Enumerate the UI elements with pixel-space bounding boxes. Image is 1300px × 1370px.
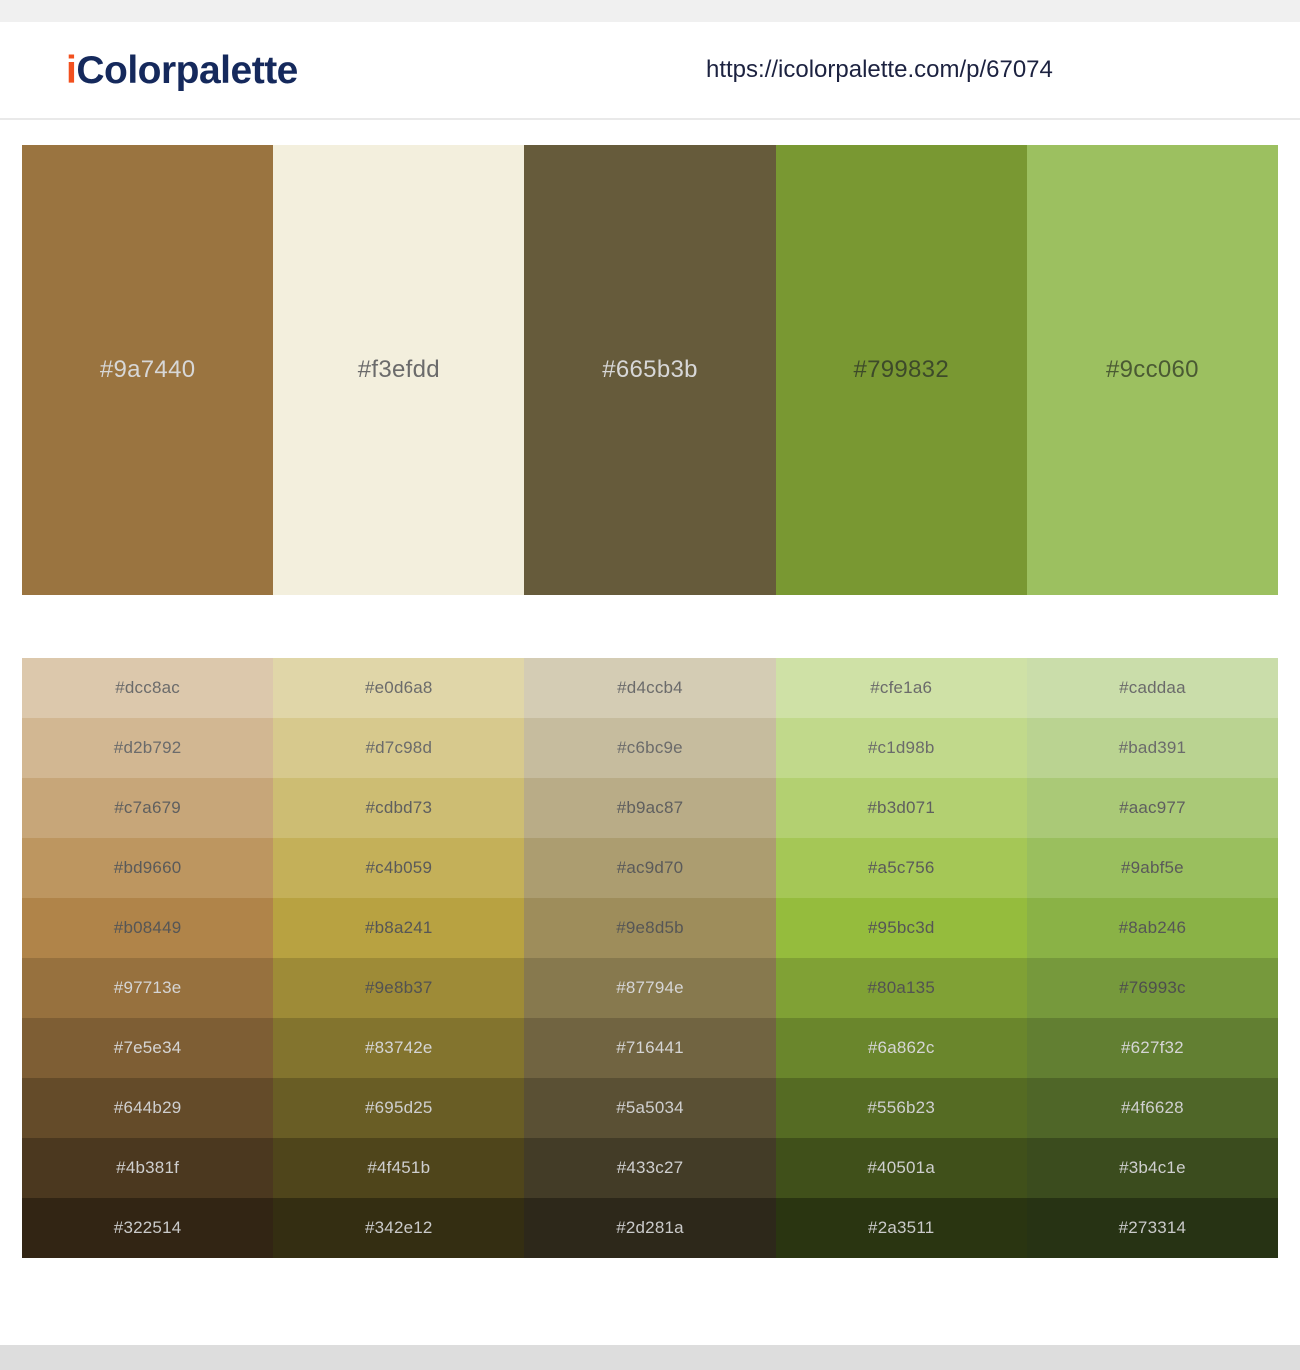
main-color-hex-label: #799832 <box>853 356 949 384</box>
shade-swatch[interactable]: #a5c756 <box>776 838 1027 898</box>
shade-swatch[interactable]: #ac9d70 <box>524 838 775 898</box>
shade-swatch[interactable]: #40501a <box>776 1138 1027 1198</box>
shade-swatch[interactable]: #716441 <box>524 1018 775 1078</box>
main-content: #9a7440#f3efdd#665b3b#799832#9cc060 #dcc… <box>0 145 1300 1258</box>
shade-column: #d4ccb4#c6bc9e#b9ac87#ac9d70#9e8d5b#8779… <box>524 658 775 1258</box>
shade-swatch[interactable]: #695d25 <box>273 1078 524 1138</box>
logo-letter-i: i <box>66 49 76 92</box>
logo-text: Colorpalette <box>76 49 298 92</box>
shade-swatch[interactable]: #8ab246 <box>1027 898 1278 958</box>
shade-swatch[interactable]: #aac977 <box>1027 778 1278 838</box>
main-color-hex-label: #9a7440 <box>100 356 196 384</box>
footer-bar <box>0 1345 1300 1370</box>
shade-swatch[interactable]: #2a3511 <box>776 1198 1027 1258</box>
shade-swatch[interactable]: #b3d071 <box>776 778 1027 838</box>
site-logo[interactable]: iColorpalette <box>66 51 298 90</box>
shade-swatch[interactable]: #6a862c <box>776 1018 1027 1078</box>
shade-swatch[interactable]: #97713e <box>22 958 273 1018</box>
shade-swatch[interactable]: #83742e <box>273 1018 524 1078</box>
shade-swatch[interactable]: #644b29 <box>22 1078 273 1138</box>
shade-swatch[interactable]: #5a5034 <box>524 1078 775 1138</box>
shade-swatch[interactable]: #433c27 <box>524 1138 775 1198</box>
shade-swatch[interactable]: #342e12 <box>273 1198 524 1258</box>
shade-swatch[interactable]: #76993c <box>1027 958 1278 1018</box>
shade-swatch[interactable]: #dcc8ac <box>22 658 273 718</box>
shade-swatch[interactable]: #c4b059 <box>273 838 524 898</box>
shade-swatch[interactable]: #c1d98b <box>776 718 1027 778</box>
shade-swatch[interactable]: #4b381f <box>22 1138 273 1198</box>
shade-swatch[interactable]: #95bc3d <box>776 898 1027 958</box>
shade-swatch[interactable]: #caddaa <box>1027 658 1278 718</box>
shade-swatch[interactable]: #b8a241 <box>273 898 524 958</box>
shade-swatch[interactable]: #d2b792 <box>22 718 273 778</box>
shade-swatch[interactable]: #2d281a <box>524 1198 775 1258</box>
shade-swatch[interactable]: #b9ac87 <box>524 778 775 838</box>
shade-swatch[interactable]: #273314 <box>1027 1198 1278 1258</box>
shade-variations-grid: #dcc8ac#d2b792#c7a679#bd9660#b08449#9771… <box>22 658 1278 1258</box>
top-strip <box>0 0 1300 22</box>
shade-swatch[interactable]: #c6bc9e <box>524 718 775 778</box>
shade-swatch[interactable]: #b08449 <box>22 898 273 958</box>
shade-swatch[interactable]: #80a135 <box>776 958 1027 1018</box>
shade-swatch[interactable]: #556b23 <box>776 1078 1027 1138</box>
shade-swatch[interactable]: #9abf5e <box>1027 838 1278 898</box>
shade-swatch[interactable]: #bd9660 <box>22 838 273 898</box>
shade-swatch[interactable]: #87794e <box>524 958 775 1018</box>
main-color-swatch[interactable]: #f3efdd <box>273 145 524 595</box>
main-color-swatch[interactable]: #9a7440 <box>22 145 273 595</box>
shade-swatch[interactable]: #627f32 <box>1027 1018 1278 1078</box>
shade-swatch[interactable]: #9e8d5b <box>524 898 775 958</box>
shade-swatch[interactable]: #cfe1a6 <box>776 658 1027 718</box>
shade-swatch[interactable]: #7e5e34 <box>22 1018 273 1078</box>
shade-column: #e0d6a8#d7c98d#cdbd73#c4b059#b8a241#9e8b… <box>273 658 524 1258</box>
shade-swatch[interactable]: #9e8b37 <box>273 958 524 1018</box>
shade-swatch[interactable]: #322514 <box>22 1198 273 1258</box>
shade-swatch[interactable]: #d7c98d <box>273 718 524 778</box>
shade-column: #caddaa#bad391#aac977#9abf5e#8ab246#7699… <box>1027 658 1278 1258</box>
shade-swatch[interactable]: #cdbd73 <box>273 778 524 838</box>
main-color-hex-label: #665b3b <box>602 356 698 384</box>
page-url: https://icolorpalette.com/p/67074 <box>706 56 1053 84</box>
shade-swatch[interactable]: #bad391 <box>1027 718 1278 778</box>
shade-swatch[interactable]: #4f6628 <box>1027 1078 1278 1138</box>
shade-swatch[interactable]: #3b4c1e <box>1027 1138 1278 1198</box>
main-color-hex-label: #f3efdd <box>358 356 440 384</box>
shade-column: #cfe1a6#c1d98b#b3d071#a5c756#95bc3d#80a1… <box>776 658 1027 1258</box>
main-color-swatch-row: #9a7440#f3efdd#665b3b#799832#9cc060 <box>22 145 1278 595</box>
main-color-swatch[interactable]: #9cc060 <box>1027 145 1278 595</box>
main-color-swatch[interactable]: #799832 <box>776 145 1027 595</box>
shade-column: #dcc8ac#d2b792#c7a679#bd9660#b08449#9771… <box>22 658 273 1258</box>
main-color-swatch[interactable]: #665b3b <box>524 145 775 595</box>
shade-swatch[interactable]: #e0d6a8 <box>273 658 524 718</box>
site-header: iColorpalette https://icolorpalette.com/… <box>0 22 1300 120</box>
shade-swatch[interactable]: #d4ccb4 <box>524 658 775 718</box>
shade-swatch[interactable]: #4f451b <box>273 1138 524 1198</box>
main-color-hex-label: #9cc060 <box>1106 356 1199 384</box>
shade-swatch[interactable]: #c7a679 <box>22 778 273 838</box>
